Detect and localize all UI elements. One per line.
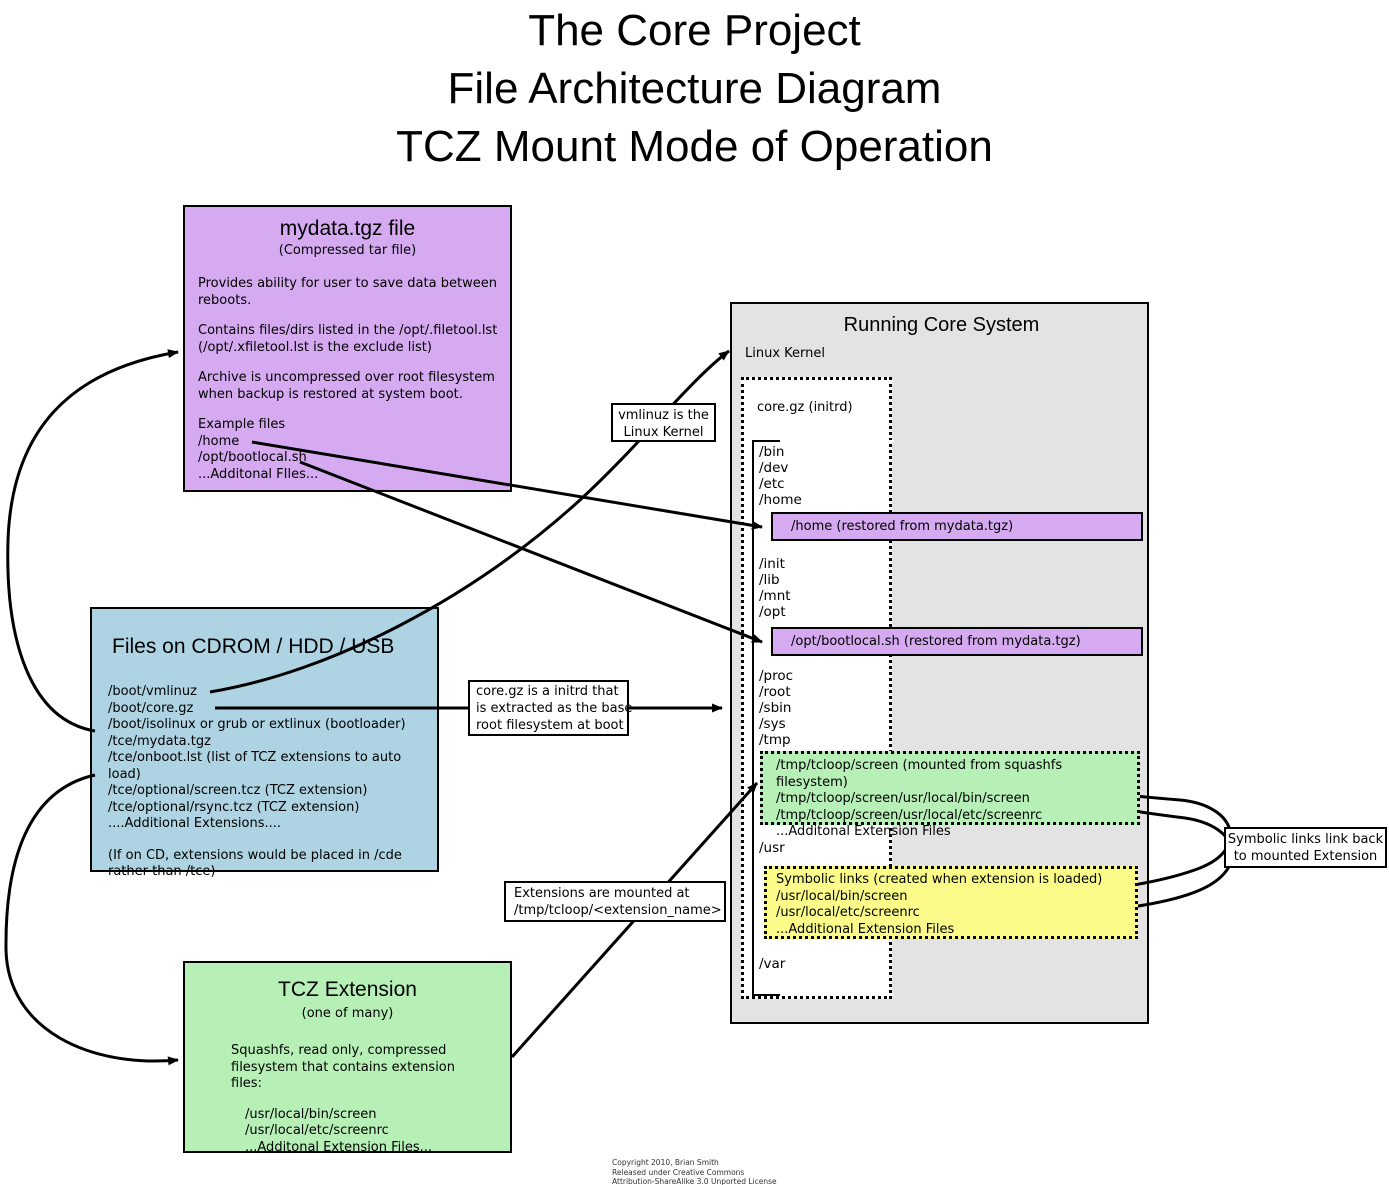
mounted-line-3: ...Additonal Extension Files [776,824,1137,841]
copyright-line-2: Released under Creative Commons [612,1168,777,1178]
mydata-subtitle: (Compressed tar file) [185,242,510,260]
core-system-title: Running Core System [732,314,1151,337]
title-line-3: TCZ Mount Mode of Operation [0,118,1389,176]
title-line-2: File Architecture Diagram [0,60,1389,118]
dir-root: /root [759,684,793,700]
files-on-media-box: Files on CDROM / HDD / USB /boot/vmlinuz… [90,607,439,872]
dir-opt: /opt [759,604,791,620]
tcz-extension-box: TCZ Extension (one of many) Squashfs, re… [183,961,512,1153]
mounted-extension-box: /tmp/tcloop/screen (mounted from squashf… [760,751,1140,825]
dir-sys: /sys [759,716,793,732]
dir-mnt: /mnt [759,588,791,604]
files-line-3: /tce/mydata.tgz [108,734,437,751]
mounted-line-1: /tmp/tcloop/screen/usr/local/bin/screen [776,791,1137,808]
files-line-1: /boot/core.gz [108,701,437,718]
mounted-line-2: /tmp/tcloop/screen/usr/local/etc/screenr… [776,808,1137,825]
dir-var: /var [759,956,785,972]
files-note: (If on CD, extensions would be placed in… [108,848,408,881]
files-title: Files on CDROM / HDD / USB [92,634,437,660]
linux-kernel-label: Linux Kernel [745,346,825,361]
tcz-file-2: ...Additonal Extension Files... [245,1140,510,1157]
mydata-example-block: Example files /home /opt/bootlocal.sh ..… [198,417,498,483]
tcz-subtitle: (one of many) [185,1005,510,1023]
dir-sbin: /sbin [759,700,793,716]
dir-usr: /usr [759,840,785,856]
files-line-2: /boot/isolinux or grub or extlinux (boot… [108,717,437,734]
dir-init: /init [759,556,791,572]
mydata-body: Provides ability for user to save data b… [198,276,498,483]
dir-proc: /proc [759,668,793,684]
files-line-0: /boot/vmlinuz [108,684,437,701]
callout-extensions-mounted: Extensions are mounted at /tmp/tcloop/<e… [504,881,726,922]
diagram-canvas: The Core Project File Architecture Diagr… [0,0,1389,1185]
mydata-para-2: Contains files/dirs listed in the /opt/.… [198,323,498,356]
dir-home: /home [759,492,802,508]
mydata-example-file-1: /opt/bootlocal.sh [198,450,307,465]
mydata-example-header: Example files [198,417,285,432]
mydata-tgz-box: mydata.tgz file (Compressed tar file) Pr… [183,205,512,492]
dir-bin: /bin [759,444,802,460]
mydata-example-file-0: /home [198,434,239,449]
mydata-para-3: Archive is uncompressed over root filesy… [198,370,498,403]
callout-vmlinuz: vmlinuz is the Linux Kernel [611,403,716,442]
tcz-file-0: /usr/local/bin/screen [245,1107,510,1124]
copyright-notice: Copyright 2010, Brian Smith Released und… [612,1158,777,1185]
callout-symbolic-links: Symbolic links link back to mounted Exte… [1224,827,1387,868]
files-body: /boot/vmlinuz /boot/core.gz /boot/isolin… [108,684,437,881]
mounted-line-0: /tmp/tcloop/screen (mounted from squashf… [776,758,1137,791]
title-line-1: The Core Project [0,2,1389,60]
files-line-5: /tce/optional/screen.tcz (TCZ extension) [108,783,437,800]
dir-group-4: /usr [759,840,785,856]
symlink-line-2: /usr/local/etc/screenrc [776,905,1135,922]
dir-group-1: /bin /dev /etc /home [759,444,802,508]
callout-coregz: core.gz is a initrd that is extracted as… [468,680,629,736]
dir-tmp: /tmp [759,732,793,748]
copyright-line-1: Copyright 2010, Brian Smith [612,1158,777,1168]
files-line-6: /tce/optional/rsync.tcz (TCZ extension) [108,800,437,817]
home-restored-bar: /home (restored from mydata.tgz) [771,512,1143,541]
mydata-example-file-2: ...Additonal FIles... [198,467,318,482]
symlink-line-1: /usr/local/bin/screen [776,889,1135,906]
symlink-line-0: Symbolic links (created when extension i… [776,872,1135,889]
dir-dev: /dev [759,460,802,476]
mydata-title: mydata.tgz file [185,216,510,242]
symbolic-links-box: Symbolic links (created when extension i… [764,866,1138,939]
tcz-desc: Squashfs, read only, compressed filesyst… [231,1043,471,1093]
files-line-4: /tce/onboot.lst (list of TCZ extensions … [108,750,437,783]
tcz-file-1: /usr/local/etc/screenrc [245,1123,510,1140]
dir-group-2: /init /lib /mnt /opt [759,556,791,620]
files-line-7: ....Additional Extensions.... [108,816,437,833]
dir-lib: /lib [759,572,791,588]
coregz-initrd-label: core.gz (initrd) [757,400,853,415]
copyright-line-3: Attribution-ShareAlike 3.0 Unported Lice… [612,1177,777,1185]
tcz-body: Squashfs, read only, compressed filesyst… [231,1043,510,1156]
dir-group-5: /var [759,956,785,972]
symlink-line-3: ...Additional Extension Files [776,922,1135,939]
page-title: The Core Project File Architecture Diagr… [0,2,1389,176]
dir-group-3: /proc /root /sbin /sys /tmp [759,668,793,748]
tcz-title: TCZ Extension [185,977,510,1003]
mydata-para-1: Provides ability for user to save data b… [198,276,498,309]
bootlocal-restored-bar: /opt/bootlocal.sh (restored from mydata.… [771,627,1143,656]
dir-etc: /etc [759,476,802,492]
